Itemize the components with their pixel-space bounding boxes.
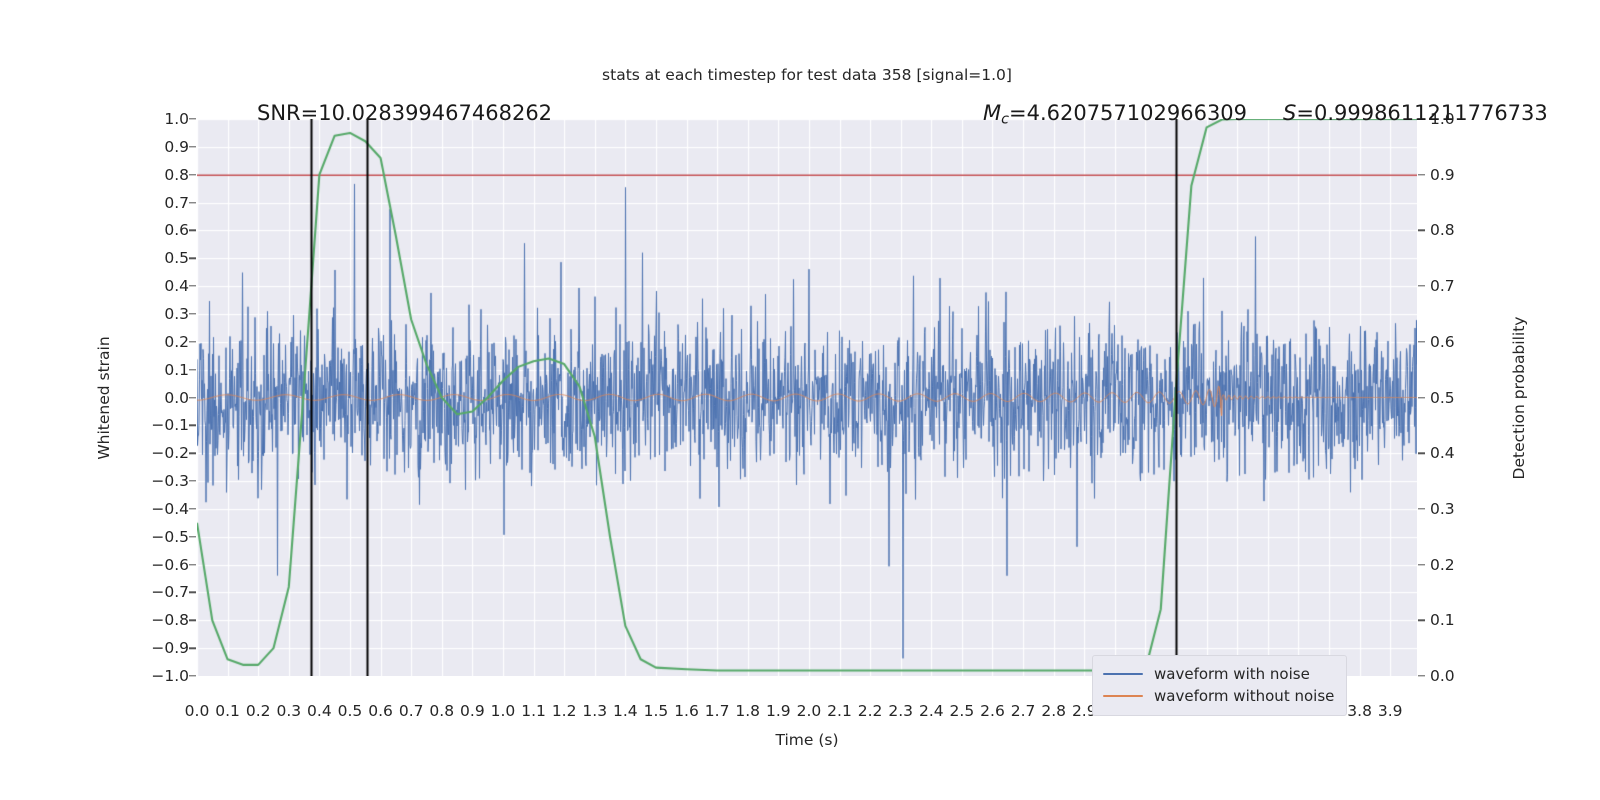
legend: waveform with noise waveform without noi… (1092, 655, 1347, 716)
x-tick-label: 1.7 (705, 702, 730, 720)
y-tick-mark-right (1418, 508, 1425, 509)
y-tick-label-left: −0.6 (151, 556, 189, 574)
y-tick-label-left: 0.1 (164, 361, 189, 379)
y-tick-mark-right (1418, 285, 1425, 286)
x-tick-label: 2.0 (797, 702, 822, 720)
x-tick-label: 2.3 (888, 702, 913, 720)
y-tick-mark-right (1418, 620, 1425, 621)
y-tick-mark-left (189, 313, 196, 314)
y-tick-label-right: 0.4 (1430, 444, 1455, 462)
legend-item: waveform without noise (1103, 685, 1334, 707)
y-tick-mark-left (189, 508, 196, 509)
y-tick-mark-left (189, 118, 196, 119)
legend-label-clean: waveform without noise (1154, 687, 1334, 705)
y-tick-label-left: −0.4 (151, 500, 189, 518)
s-text: S=0.9998611211776733 (1283, 101, 1548, 125)
x-tick-label: 0.3 (276, 702, 301, 720)
x-tick-label: 1.5 (644, 702, 669, 720)
y-tick-mark-left (189, 536, 196, 537)
y-tick-label-left: −0.1 (151, 416, 189, 434)
y-tick-label-left: 0.2 (164, 333, 189, 351)
x-tick-label: 0.9 (460, 702, 485, 720)
mc-text: Mc=4.620757102966309 (983, 101, 1247, 125)
x-tick-label: 2.8 (1041, 702, 1066, 720)
y-tick-label-left: −0.9 (151, 639, 189, 657)
y-tick-label-left: 0.0 (164, 389, 189, 407)
x-tick-label: 0.2 (246, 702, 271, 720)
y-tick-label-right: 0.8 (1430, 221, 1455, 239)
y-tick-mark-left (189, 452, 196, 453)
x-tick-label: 0.7 (399, 702, 424, 720)
y-tick-mark-right (1418, 452, 1425, 453)
y-tick-mark-right (1418, 230, 1425, 231)
x-tick-label: 2.7 (1011, 702, 1036, 720)
y-tick-mark-right (1418, 397, 1425, 398)
y-tick-mark-right (1418, 341, 1425, 342)
x-tick-label: 2.4 (919, 702, 944, 720)
y-tick-mark-left (189, 480, 196, 481)
x-tick-label: 0.8 (429, 702, 454, 720)
x-tick-label: 1.2 (552, 702, 577, 720)
y-tick-mark-left (189, 647, 196, 648)
y-tick-mark-left (189, 620, 196, 621)
y-tick-label-right: 0.0 (1430, 667, 1455, 685)
y-tick-label-left: 1.0 (164, 110, 189, 128)
y-tick-mark-right (1418, 564, 1425, 565)
y-tick-mark-left (189, 146, 196, 147)
y-axis-label-left: Whitened strain (95, 336, 113, 459)
x-axis-label: Time (s) (775, 731, 838, 749)
y-tick-label-left: −0.7 (151, 583, 189, 601)
y-tick-mark-left (189, 369, 196, 370)
x-tick-label: 1.1 (521, 702, 546, 720)
y-tick-label-left: 0.4 (164, 277, 189, 295)
chirp-mass-annotation: Mc=4.620757102966309 (983, 103, 1247, 127)
y-tick-label-left: 0.7 (164, 194, 189, 212)
chart-title: stats at each timestep for test data 358… (602, 66, 1012, 84)
y-tick-label-left: 0.3 (164, 305, 189, 323)
y-tick-mark-left (189, 564, 196, 565)
x-tick-label: 2.2 (858, 702, 883, 720)
plot-area (197, 119, 1417, 676)
y-tick-mark-right (1418, 675, 1425, 676)
y-tick-mark-left (189, 285, 196, 286)
y-tick-label-right: 0.9 (1430, 166, 1455, 184)
x-tick-label: 1.4 (613, 702, 638, 720)
y-tick-label-left: −0.2 (151, 444, 189, 462)
y-tick-label-left: −0.8 (151, 611, 189, 629)
y-tick-mark-left (189, 397, 196, 398)
y-tick-label-left: 0.9 (164, 138, 189, 156)
figure: stats at each timestep for test data 358… (0, 0, 1600, 800)
x-tick-label: 0.0 (185, 702, 210, 720)
y-tick-label-right: 0.6 (1430, 333, 1455, 351)
x-tick-label: 1.9 (766, 702, 791, 720)
snr-text: SNR=10.028399467468262 (257, 101, 552, 125)
x-tick-label: 1.3 (582, 702, 607, 720)
y-tick-label-right: 0.1 (1430, 611, 1455, 629)
legend-swatch-clean (1103, 695, 1143, 698)
x-tick-label: 0.6 (368, 702, 393, 720)
y-tick-mark-left (189, 341, 196, 342)
legend-swatch-noise (1103, 673, 1143, 676)
x-tick-label: 0.4 (307, 702, 332, 720)
y-tick-label-right: 0.7 (1430, 277, 1455, 295)
score-annotation: S=0.9998611211776733 (1283, 103, 1548, 124)
x-tick-label: 0.5 (338, 702, 363, 720)
y-tick-label-left: −1.0 (151, 667, 189, 685)
y-tick-mark-right (1418, 174, 1425, 175)
x-tick-label: 1.0 (491, 702, 516, 720)
y-axis-label-right: Detection probability (1510, 317, 1528, 480)
y-tick-mark-left (189, 258, 196, 259)
legend-label-noise: waveform with noise (1154, 665, 1310, 683)
x-tick-label: 2.5 (950, 702, 975, 720)
y-tick-mark-left (189, 675, 196, 676)
y-tick-label-left: −0.3 (151, 472, 189, 490)
y-tick-label-right: 0.3 (1430, 500, 1455, 518)
x-tick-label: 3.8 (1347, 702, 1372, 720)
waveform-canvas (197, 119, 1417, 676)
y-tick-mark-left (189, 202, 196, 203)
y-tick-label-left: 0.5 (164, 249, 189, 267)
y-tick-label-left: −0.5 (151, 528, 189, 546)
y-tick-mark-left (189, 230, 196, 231)
x-tick-label: 2.1 (827, 702, 852, 720)
y-tick-label-left: 0.6 (164, 221, 189, 239)
y-tick-label-right: 0.5 (1430, 389, 1455, 407)
legend-item: waveform with noise (1103, 663, 1334, 685)
x-tick-label: 1.6 (674, 702, 699, 720)
y-tick-mark-left (189, 592, 196, 593)
x-tick-label: 2.6 (980, 702, 1005, 720)
y-tick-mark-left (189, 174, 196, 175)
x-tick-label: 1.8 (735, 702, 760, 720)
snr-annotation: SNR=10.028399467468262 (257, 103, 552, 124)
y-tick-mark-left (189, 425, 196, 426)
x-tick-label: 3.9 (1378, 702, 1403, 720)
y-tick-label-right: 0.2 (1430, 556, 1455, 574)
y-tick-label-left: 0.8 (164, 166, 189, 184)
x-tick-label: 0.1 (215, 702, 240, 720)
